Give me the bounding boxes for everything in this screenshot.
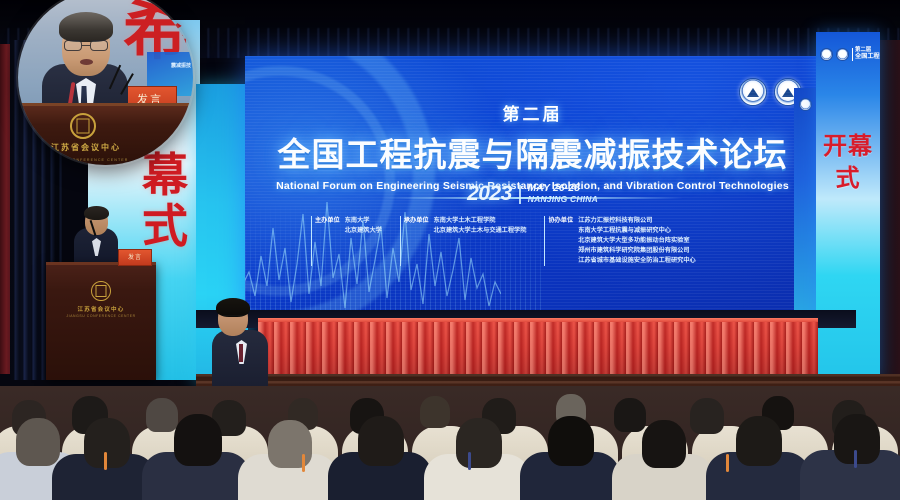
organizer-line: 郑州市建筑科学研究院集团股份有限公司 bbox=[578, 246, 696, 256]
conference-emblem-icon bbox=[91, 281, 111, 301]
attendee-lanyard bbox=[726, 454, 729, 472]
university-seal-icon bbox=[820, 48, 833, 61]
forum-edition-label: 第二届 bbox=[245, 100, 820, 125]
organizer-tag: 协办单位 bbox=[544, 216, 573, 266]
audience-head bbox=[690, 398, 724, 434]
banner-title-short: 全国工程 bbox=[855, 54, 880, 61]
audience-head bbox=[268, 420, 312, 468]
attendee-lanyard bbox=[104, 452, 107, 470]
audience-head bbox=[358, 416, 404, 466]
audience-head bbox=[174, 414, 222, 466]
conference-emblem-icon bbox=[70, 113, 96, 139]
event-year: 2023 bbox=[467, 182, 512, 206]
organizer-line: 北京建筑大学 bbox=[345, 226, 382, 236]
organizer-line: 北京建筑大学大型多功能振动台阵实验室 bbox=[578, 236, 696, 246]
banner-header: 第二届 全国工程 bbox=[820, 48, 880, 61]
organizer-lines: 东南大学土木工程学院 北京建筑大学土木与交通工程学院 bbox=[434, 216, 527, 266]
banner-secondary bbox=[794, 88, 816, 318]
attendee-lanyard bbox=[468, 452, 471, 470]
organizer-line: 东南大学 bbox=[345, 216, 382, 226]
audience-head bbox=[548, 416, 594, 466]
attendee-walking-glasses-icon bbox=[222, 315, 244, 320]
attendee-lanyard bbox=[302, 454, 305, 472]
attendee-lanyard bbox=[854, 450, 857, 468]
inset-podium: 江苏省会议中心 JIANGSU CONFERENCE CENTER bbox=[18, 103, 193, 165]
inset-speaker-hair bbox=[59, 12, 113, 42]
picture-in-picture-inset: 希 震减振技 发言 江苏省会议中心 JIANGSU CONFERENCE CEN… bbox=[18, 0, 193, 165]
inset-screen-text: 震减振技 bbox=[171, 62, 191, 69]
organizer-lines: 东南大学 北京建筑大学 bbox=[345, 216, 382, 266]
audience-head bbox=[16, 418, 60, 466]
organizer-lines: 江苏力汇振控科技有限公司 东南大学工程抗震与减振研究中心 北京建筑大学大型多功能… bbox=[578, 216, 696, 266]
event-city: NANJING CHINA bbox=[528, 195, 598, 204]
banner-red-vertical-text: 开幕式 bbox=[816, 130, 880, 195]
organizer-group-host: 主办单位 东南大学 北京建筑大学 bbox=[311, 216, 382, 266]
forum-title-cn: 全国工程抗震与隔震减振技术论坛 bbox=[245, 128, 820, 176]
stage-red-curtain-skirt bbox=[258, 322, 818, 378]
organizers-block: 主办单位 东南大学 北京建筑大学 承办单位 东南大学土木工程学院 北京建筑大学土… bbox=[311, 216, 804, 266]
organizer-tag: 承办单位 bbox=[400, 216, 429, 266]
inset-podium-venue-en: JIANGSU CONFERENCE CENTER bbox=[42, 158, 130, 162]
inset-podium-venue-cn: 江苏省会议中心 bbox=[42, 142, 130, 153]
audience-head bbox=[736, 416, 782, 466]
organizer-group-undertaker: 承办单位 东南大学土木工程学院 北京建筑大学土木与交通工程学院 bbox=[400, 216, 527, 266]
organizer-tag: 主办单位 bbox=[311, 216, 340, 266]
audience-head bbox=[614, 398, 646, 432]
audience-area bbox=[0, 386, 900, 500]
audience-head bbox=[834, 414, 880, 464]
audience-head bbox=[456, 418, 502, 468]
conference-photo: 希 幕式 第二届 全国工程抗震与隔震减振技术论坛 National Forum … bbox=[0, 0, 900, 500]
audience-head bbox=[146, 398, 178, 432]
main-led-screen: 第二届 全国工程抗震与隔震减振技术论坛 National Forum on En… bbox=[245, 56, 820, 318]
organizer-line: 江苏力汇振控科技有限公司 bbox=[578, 216, 696, 226]
attendee-walking-tie bbox=[239, 344, 243, 362]
organizer-line: 东南大学土木工程学院 bbox=[434, 216, 527, 226]
university-seal-icon bbox=[799, 98, 812, 111]
organizer-group-coorganizer: 协办单位 江苏力汇振控科技有限公司 东南大学工程抗震与减振研究中心 北京建筑大学… bbox=[544, 216, 695, 266]
audience-head bbox=[84, 418, 130, 468]
audience-head bbox=[420, 396, 450, 428]
event-date-block: 2023 MAY 26-28 NANJING CHINA bbox=[245, 182, 820, 206]
organizer-line: 东南大学工程抗震与减振研究中心 bbox=[578, 226, 696, 236]
inset-speaker-mouth bbox=[80, 59, 93, 65]
glasses-icon bbox=[63, 40, 109, 51]
university-seal-icon bbox=[836, 48, 849, 61]
date-divider bbox=[519, 185, 521, 204]
organizer-line: 江苏省城市基础设施安全防治工程研究中心 bbox=[578, 256, 696, 266]
speaker-hair bbox=[84, 206, 109, 220]
audience-head bbox=[642, 420, 686, 468]
organizer-line: 北京建筑大学土木与交通工程学院 bbox=[434, 226, 527, 236]
